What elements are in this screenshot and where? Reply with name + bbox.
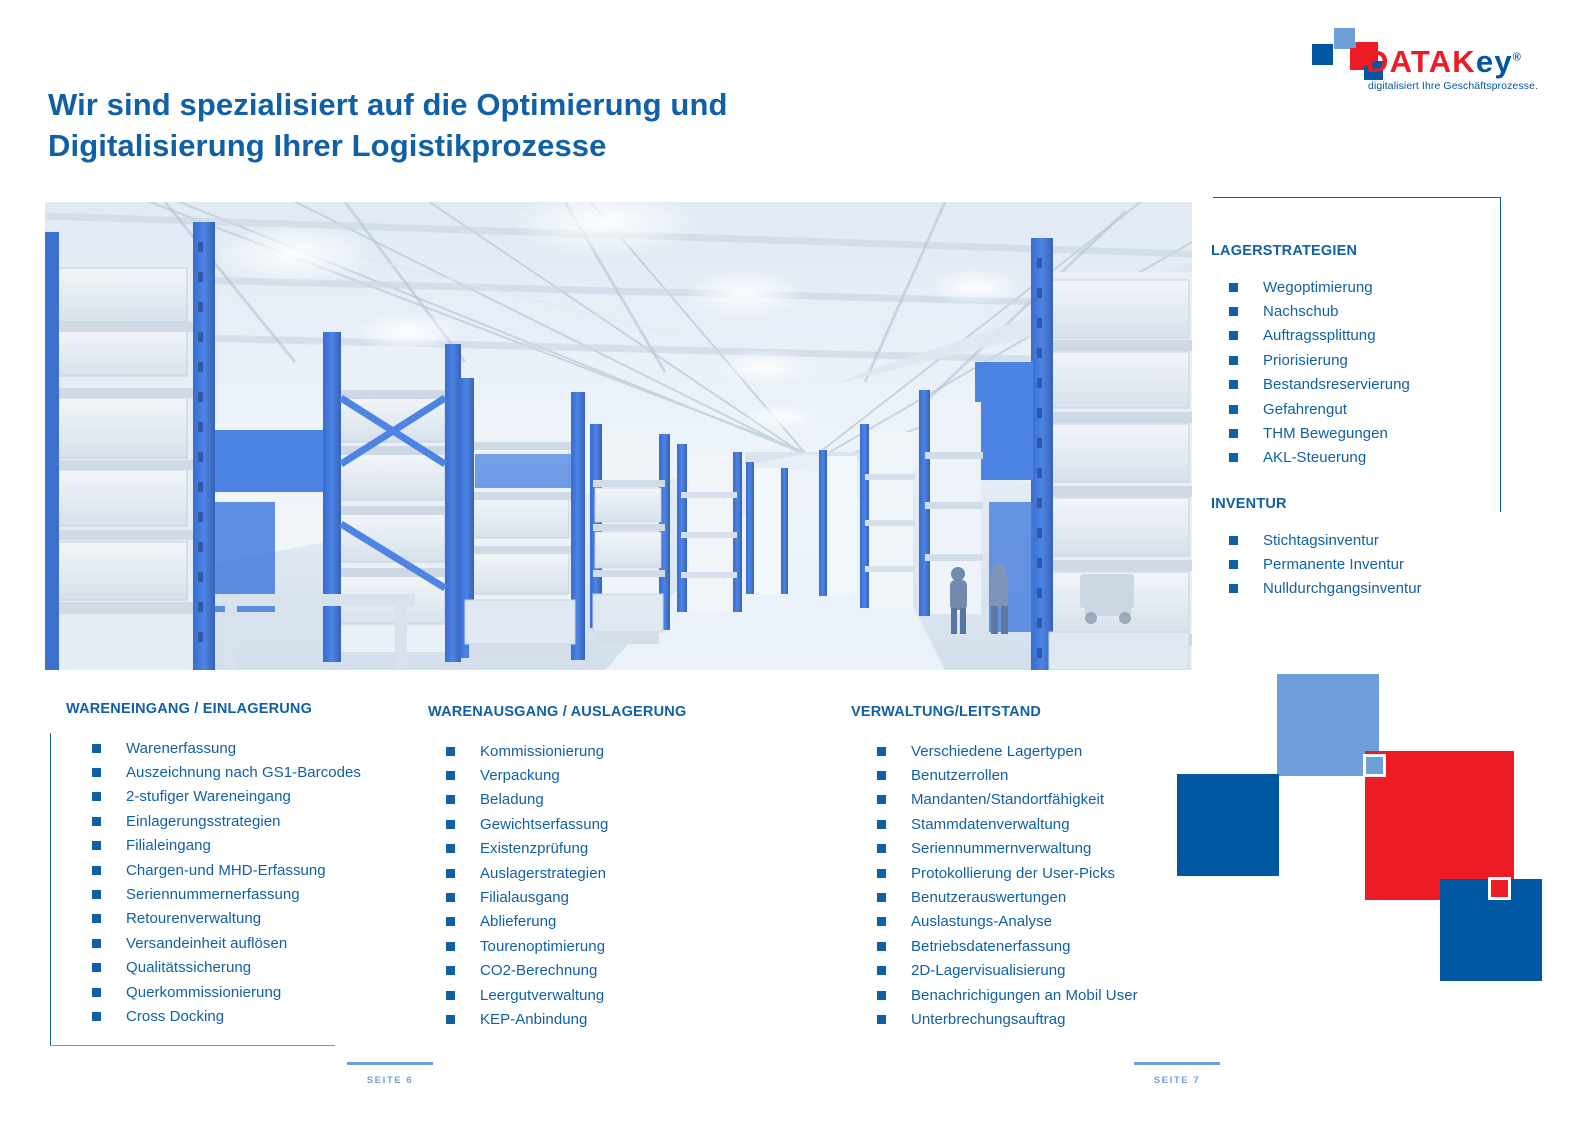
bullet-square-icon xyxy=(446,844,455,853)
bullet-square-icon xyxy=(446,771,455,780)
bullet-square-icon xyxy=(92,744,101,753)
section-inventur: INVENTUR Stichtagsinventur Permanente In… xyxy=(1211,496,1422,601)
list-item: Beladung xyxy=(446,788,686,812)
list-lagerstrategien: Wegoptimierung Nachschub Auftragssplittu… xyxy=(1229,275,1410,470)
section-heading-wareneingang: WARENEINGANG / EINLAGERUNG xyxy=(66,701,361,717)
bullet-square-icon xyxy=(92,963,101,972)
bullet-square-icon xyxy=(92,914,101,923)
list-item-label: Seriennummernverwaltung xyxy=(911,840,1091,857)
bullet-square-icon xyxy=(446,991,455,1000)
list-item-label: Chargen-und MHD-Erfassung xyxy=(126,862,326,879)
list-item-label: Benutzerauswertungen xyxy=(911,889,1066,906)
page-number-right: SEITE 7 xyxy=(1134,1075,1220,1086)
list-item: Stammdatenverwaltung xyxy=(877,812,1138,836)
list-wareneingang: Warenerfassung Auszeichnung nach GS1-Bar… xyxy=(92,736,361,1029)
deco-accent-square-red xyxy=(1488,877,1511,900)
bullet-square-icon xyxy=(446,966,455,975)
list-item-label: 2-stufiger Wareneingang xyxy=(126,788,291,805)
section-heading-inventur: INVENTUR xyxy=(1211,496,1422,512)
bullet-square-icon xyxy=(1229,405,1238,414)
bullet-square-icon xyxy=(877,991,886,1000)
bullet-square-icon xyxy=(877,820,886,829)
bullet-square-icon xyxy=(1229,453,1238,462)
list-item: Cross Docking xyxy=(92,1004,361,1028)
list-item: Seriennummernverwaltung xyxy=(877,837,1138,861)
list-item: Nachschub xyxy=(1229,299,1410,323)
list-item: Mandanten/Standortfähigkeit xyxy=(877,788,1138,812)
list-item: Benutzerauswertungen xyxy=(877,885,1138,909)
section-warenausgang: WARENAUSGANG / AUSLAGERUNG Kommissionier… xyxy=(428,704,686,1032)
logo-registered-mark: ® xyxy=(1513,52,1522,64)
list-item: Unterbrechungsauftrag xyxy=(877,1007,1138,1031)
bullet-square-icon xyxy=(1229,536,1238,545)
list-item-label: Einlagerungsstrategien xyxy=(126,813,281,830)
bullet-square-icon xyxy=(1229,283,1238,292)
list-item-label: Benutzerrollen xyxy=(911,767,1008,784)
list-item-label: Gewichtserfassung xyxy=(480,816,608,833)
list-item-label: Nachschub xyxy=(1263,303,1339,320)
list-item-label: AKL-Steuerung xyxy=(1263,449,1366,466)
page-title: Wir sind spezialisiert auf die Optimieru… xyxy=(48,84,878,166)
bullet-square-icon xyxy=(877,844,886,853)
list-item: Gefahrengut xyxy=(1229,397,1410,421)
list-item-label: Warenerfassung xyxy=(126,740,236,757)
bullet-square-icon xyxy=(877,771,886,780)
list-warenausgang: Kommissionierung Verpackung Beladung Gew… xyxy=(446,739,686,1032)
list-item-label: Beladung xyxy=(480,791,544,808)
list-item: Retourenverwaltung xyxy=(92,907,361,931)
logo-wordmark-part2: ey xyxy=(1476,44,1513,79)
list-item: AKL-Steuerung xyxy=(1229,446,1410,470)
list-item-label: Filialeingang xyxy=(126,837,211,854)
logo-tagline: digitalisiert Ihre Geschäftsprozesse. xyxy=(1368,80,1538,92)
list-item-label: Bestandsreservierung xyxy=(1263,376,1410,393)
bullet-square-icon xyxy=(446,795,455,804)
logo-wordmark-part1: DATAK xyxy=(1366,44,1476,79)
list-item-label: THM Bewegungen xyxy=(1263,425,1388,442)
list-item: Benachrichigungen an Mobil User xyxy=(877,983,1138,1007)
list-item-label: Gefahrengut xyxy=(1263,401,1347,418)
section-verwaltung: VERWALTUNG/LEITSTAND Verschiedene Lagert… xyxy=(851,704,1138,1032)
list-item-label: Benachrichigungen an Mobil User xyxy=(911,987,1138,1004)
bullet-square-icon xyxy=(1229,560,1238,569)
list-item-label: KEP-Anbindung xyxy=(480,1011,587,1028)
list-item-label: Versandeinheit auflösen xyxy=(126,935,287,952)
list-item: Qualitätssicherung xyxy=(92,956,361,980)
list-item: Seriennummernerfassung xyxy=(92,882,361,906)
bullet-square-icon xyxy=(877,917,886,926)
list-item-label: Filialausgang xyxy=(480,889,569,906)
list-item: Benutzerrollen xyxy=(877,763,1138,787)
logo-square-dark-blue xyxy=(1312,44,1333,65)
list-item-label: Unterbrechungsauftrag xyxy=(911,1011,1065,1028)
bullet-square-icon xyxy=(446,917,455,926)
list-item: 2D-Lagervisualisierung xyxy=(877,959,1138,983)
bullet-square-icon xyxy=(446,820,455,829)
bullet-square-icon xyxy=(446,747,455,756)
list-item: Bestandsreservierung xyxy=(1229,373,1410,397)
logo-square-accent-blue xyxy=(1350,42,1356,48)
list-item-label: Auszeichnung nach GS1-Barcodes xyxy=(126,764,361,781)
section-heading-verwaltung: VERWALTUNG/LEITSTAND xyxy=(851,704,1138,720)
list-item-label: Retourenverwaltung xyxy=(126,910,261,927)
slide-canvas: DATAKey® digitalisiert Ihre Geschäftspro… xyxy=(0,0,1588,1123)
brand-logo: DATAKey® digitalisiert Ihre Geschäftspro… xyxy=(1306,28,1556,90)
footer-rule xyxy=(347,1062,433,1065)
list-verwaltung: Verschiedene Lagertypen Benutzerrollen M… xyxy=(877,739,1138,1032)
list-item-label: Priorisierung xyxy=(1263,352,1348,369)
bullet-square-icon xyxy=(877,942,886,951)
list-item: Auszeichnung nach GS1-Barcodes xyxy=(92,760,361,784)
list-item: Stichtagsinventur xyxy=(1229,528,1422,552)
list-item-label: Existenzprüfung xyxy=(480,840,588,857)
list-item: Gewichtserfassung xyxy=(446,812,686,836)
footer-rule xyxy=(1134,1062,1220,1065)
list-item-label: Auslastungs-Analyse xyxy=(911,913,1052,930)
logo-wordmark: DATAKey® xyxy=(1366,46,1522,77)
list-item-label: Querkommissionierung xyxy=(126,984,281,1001)
list-item-label: Verschiedene Lagertypen xyxy=(911,743,1082,760)
list-item-label: Protokollierung der User-Picks xyxy=(911,865,1115,882)
list-item-label: Cross Docking xyxy=(126,1008,224,1025)
bullet-square-icon xyxy=(92,817,101,826)
list-item-label: Seriennummernerfassung xyxy=(126,886,300,903)
logo-squares-icon xyxy=(1306,28,1372,68)
list-item-label: Wegoptimierung xyxy=(1263,279,1373,296)
list-item: THM Bewegungen xyxy=(1229,421,1410,445)
list-item-label: CO2-Berechnung xyxy=(480,962,597,979)
bullet-square-icon xyxy=(1229,584,1238,593)
list-item-label: Nulldurchgangsinventur xyxy=(1263,580,1422,597)
list-item: Filialeingang xyxy=(92,834,361,858)
list-item-label: Kommissionierung xyxy=(480,743,604,760)
deco-accent-square-blue xyxy=(1363,754,1386,777)
section-heading-warenausgang: WARENAUSGANG / AUSLAGERUNG xyxy=(428,704,686,720)
list-item: Verschiedene Lagertypen xyxy=(877,739,1138,763)
list-item: KEP-Anbindung xyxy=(446,1007,686,1031)
deco-square-dark-blue-left xyxy=(1177,774,1279,876)
bullet-square-icon xyxy=(446,1015,455,1024)
list-item: Auslagerstrategien xyxy=(446,861,686,885)
footer-page-left: SEITE 6 xyxy=(347,1062,433,1086)
list-item: Leergutverwaltung xyxy=(446,983,686,1007)
list-item: CO2-Berechnung xyxy=(446,959,686,983)
list-item-label: Permanente Inventur xyxy=(1263,556,1404,573)
list-item: Betriebsdatenerfassung xyxy=(877,934,1138,958)
bullet-square-icon xyxy=(446,893,455,902)
list-item: Wegoptimierung xyxy=(1229,275,1410,299)
bullet-square-icon xyxy=(1229,307,1238,316)
list-item: Querkommissionierung xyxy=(92,980,361,1004)
decorative-squares xyxy=(1160,660,1580,1020)
list-item-label: Ablieferung xyxy=(480,913,556,930)
list-item: 2-stufiger Wareneingang xyxy=(92,785,361,809)
bullet-square-icon xyxy=(1229,331,1238,340)
bullet-square-icon xyxy=(877,966,886,975)
list-item: Einlagerungsstrategien xyxy=(92,809,361,833)
list-inventur: Stichtagsinventur Permanente Inventur Nu… xyxy=(1229,528,1422,601)
list-item: Verpackung xyxy=(446,763,686,787)
bullet-square-icon xyxy=(1229,380,1238,389)
list-item: Auslastungs-Analyse xyxy=(877,910,1138,934)
list-item-label: Betriebsdatenerfassung xyxy=(911,938,1071,955)
bullet-square-icon xyxy=(877,869,886,878)
list-item: Kommissionierung xyxy=(446,739,686,763)
list-item: Filialausgang xyxy=(446,885,686,909)
list-item: Warenerfassung xyxy=(92,736,361,760)
bullet-square-icon xyxy=(92,988,101,997)
bullet-square-icon xyxy=(446,869,455,878)
list-item: Ablieferung xyxy=(446,910,686,934)
bullet-square-icon xyxy=(877,1015,886,1024)
bullet-square-icon xyxy=(92,939,101,948)
list-item-label: Leergutverwaltung xyxy=(480,987,604,1004)
list-item: Chargen-und MHD-Erfassung xyxy=(92,858,361,882)
list-item: Permanente Inventur xyxy=(1229,552,1422,576)
list-item: Auftragssplittung xyxy=(1229,324,1410,348)
bullet-square-icon xyxy=(877,795,886,804)
bullet-square-icon xyxy=(446,942,455,951)
list-item-label: Tourenoptimierung xyxy=(480,938,605,955)
list-item-label: Auftragssplittung xyxy=(1263,327,1376,344)
page-number-left: SEITE 6 xyxy=(347,1075,433,1086)
list-item: Priorisierung xyxy=(1229,348,1410,372)
section-lagerstrategien: LAGERSTRATEGIEN Wegoptimierung Nachschub… xyxy=(1211,243,1410,470)
list-item-label: Stichtagsinventur xyxy=(1263,532,1379,549)
bullet-square-icon xyxy=(877,893,886,902)
list-item: Tourenoptimierung xyxy=(446,934,686,958)
warehouse-photo xyxy=(45,202,1192,670)
list-item: Versandeinheit auflösen xyxy=(92,931,361,955)
section-heading-lagerstrategien: LAGERSTRATEGIEN xyxy=(1211,243,1410,259)
list-item: Protokollierung der User-Picks xyxy=(877,861,1138,885)
bullet-square-icon xyxy=(1229,356,1238,365)
list-item-label: Verpackung xyxy=(480,767,560,784)
footer-page-right: SEITE 7 xyxy=(1134,1062,1220,1086)
bullet-square-icon xyxy=(92,890,101,899)
list-item-label: Stammdatenverwaltung xyxy=(911,816,1070,833)
bullet-square-icon xyxy=(92,841,101,850)
list-item-label: 2D-Lagervisualisierung xyxy=(911,962,1066,979)
section-wareneingang: WARENEINGANG / EINLAGERUNG Warenerfassun… xyxy=(66,701,361,1029)
bullet-square-icon xyxy=(92,1012,101,1021)
list-item: Existenzprüfung xyxy=(446,837,686,861)
list-item-label: Auslagerstrategien xyxy=(480,865,606,882)
bullet-square-icon xyxy=(92,768,101,777)
list-item-label: Mandanten/Standortfähigkeit xyxy=(911,791,1104,808)
list-item-label: Qualitätssicherung xyxy=(126,959,251,976)
bullet-square-icon xyxy=(92,792,101,801)
list-item: Nulldurchgangsinventur xyxy=(1229,577,1422,601)
bullet-square-icon xyxy=(92,866,101,875)
bullet-square-icon xyxy=(877,747,886,756)
bullet-square-icon xyxy=(1229,429,1238,438)
